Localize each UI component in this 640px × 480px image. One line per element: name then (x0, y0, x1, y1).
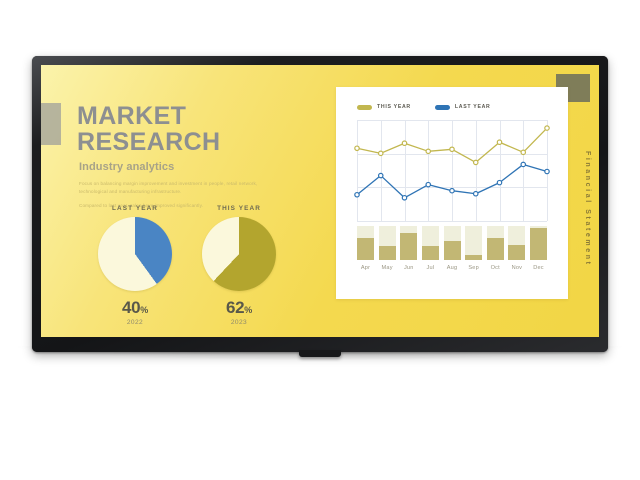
bar-track (379, 226, 396, 260)
chart-card: THIS YEARLAST YEAR AprMayJunJulAugSepOct… (336, 87, 568, 299)
data-point-marker[interactable] (355, 146, 359, 150)
bar-fill (444, 241, 461, 260)
bar-track (465, 226, 482, 260)
pie-year-label: 2023 (189, 319, 289, 326)
bar-track (400, 226, 417, 260)
data-point-marker[interactable] (545, 126, 549, 130)
data-point-marker[interactable] (426, 149, 430, 153)
pie-unit-2022: LAST YEAR40%2022 (85, 205, 185, 326)
slide-text-column: MARKET RESEARCH Industry analytics Focus… (77, 103, 305, 210)
bar-column[interactable]: Sep (465, 226, 482, 271)
bar-axis-label: Nov (508, 265, 525, 271)
legend-swatch-icon (435, 105, 450, 110)
legend-label: THIS YEAR (377, 104, 411, 110)
data-point-marker[interactable] (355, 193, 359, 197)
monitor-display: Financial Statement MARKET RESEARCH Indu… (32, 56, 608, 352)
bar-fill (400, 233, 417, 260)
legend-item[interactable]: LAST YEAR (435, 104, 491, 110)
data-point-marker[interactable] (474, 192, 478, 196)
bar-column[interactable]: Jun (400, 226, 417, 271)
bar-column[interactable]: Aug (444, 226, 461, 271)
pie-year-label: 2022 (85, 319, 185, 326)
bar-fill (422, 246, 439, 260)
data-point-marker[interactable] (497, 140, 501, 144)
bar-column[interactable]: Nov (508, 226, 525, 271)
pie-chart-group: LAST YEAR40%2022THIS YEAR62%2023 (77, 205, 307, 337)
bar-fill (530, 228, 547, 260)
accent-block-left (41, 103, 61, 145)
pie-percent-value: 62% (189, 299, 289, 316)
bar-axis-label: Jun (400, 265, 417, 271)
data-point-marker[interactable] (402, 196, 406, 200)
pie-chart (98, 217, 172, 291)
bar-track (444, 226, 461, 260)
pie-chart (202, 217, 276, 291)
bar-fill (508, 245, 525, 260)
bar-track (422, 226, 439, 260)
gridline-horizontal (357, 221, 547, 222)
pie-percent-symbol: % (140, 305, 148, 315)
line-series-path (357, 128, 547, 162)
bar-track (508, 226, 525, 260)
slide-subtitle: Industry analytics (79, 161, 305, 173)
data-point-marker[interactable] (402, 141, 406, 145)
bar-axis-label: Aug (444, 265, 461, 271)
bar-column[interactable]: Dec (530, 226, 547, 271)
bar-fill (379, 246, 396, 260)
bar-chart: AprMayJunJulAugSepOctNovDec (357, 229, 547, 271)
data-point-marker[interactable] (521, 162, 525, 166)
line-series-svg (357, 120, 547, 221)
bar-fill (465, 255, 482, 260)
bar-axis-label: Oct (487, 265, 504, 271)
data-point-marker[interactable] (497, 180, 501, 184)
pie-percent-symbol: % (244, 305, 252, 315)
bar-column[interactable]: Jul (422, 226, 439, 271)
bar-track (530, 226, 547, 260)
slide-paragraph-1: Focus on balancing margin improvement an… (79, 180, 269, 196)
bar-axis-label: Apr (357, 265, 374, 271)
data-point-marker[interactable] (545, 169, 549, 173)
data-point-marker[interactable] (450, 189, 454, 193)
pie-percent-value: 40% (85, 299, 185, 316)
legend-label: LAST YEAR (455, 104, 491, 110)
pie-percent-number: 40 (122, 298, 140, 317)
pie-percent-number: 62 (226, 298, 244, 317)
monitor-stand-tab (299, 350, 341, 357)
chart-legend: THIS YEARLAST YEAR (357, 104, 491, 110)
data-point-marker[interactable] (379, 173, 383, 177)
bar-column[interactable]: Oct (487, 226, 504, 271)
pie-unit-2023: THIS YEAR62%2023 (189, 205, 289, 326)
data-point-marker[interactable] (521, 150, 525, 154)
legend-swatch-icon (357, 105, 372, 110)
data-point-marker[interactable] (379, 151, 383, 155)
line-chart-plot (357, 120, 547, 221)
bar-fill (487, 238, 504, 260)
bar-axis-label: Dec (530, 265, 547, 271)
bar-track (357, 226, 374, 260)
side-label-financial-statement: Financial Statement (584, 151, 591, 267)
bar-track (487, 226, 504, 260)
presentation-slide: Financial Statement MARKET RESEARCH Indu… (41, 65, 599, 337)
bar-column[interactable]: Apr (357, 226, 374, 271)
data-point-marker[interactable] (474, 160, 478, 164)
bar-axis-label: Jul (422, 265, 439, 271)
pie-caption: THIS YEAR (189, 205, 289, 212)
bar-fill (357, 238, 374, 260)
bar-axis-label: May (379, 265, 396, 271)
data-point-marker[interactable] (450, 147, 454, 151)
screen-content: Financial Statement MARKET RESEARCH Indu… (41, 65, 599, 337)
pie-caption: LAST YEAR (85, 205, 185, 212)
page-title: MARKET RESEARCH (77, 103, 305, 156)
bar-column[interactable]: May (379, 226, 396, 271)
bar-axis-label: Sep (465, 265, 482, 271)
data-point-marker[interactable] (426, 182, 430, 186)
legend-item[interactable]: THIS YEAR (357, 104, 411, 110)
